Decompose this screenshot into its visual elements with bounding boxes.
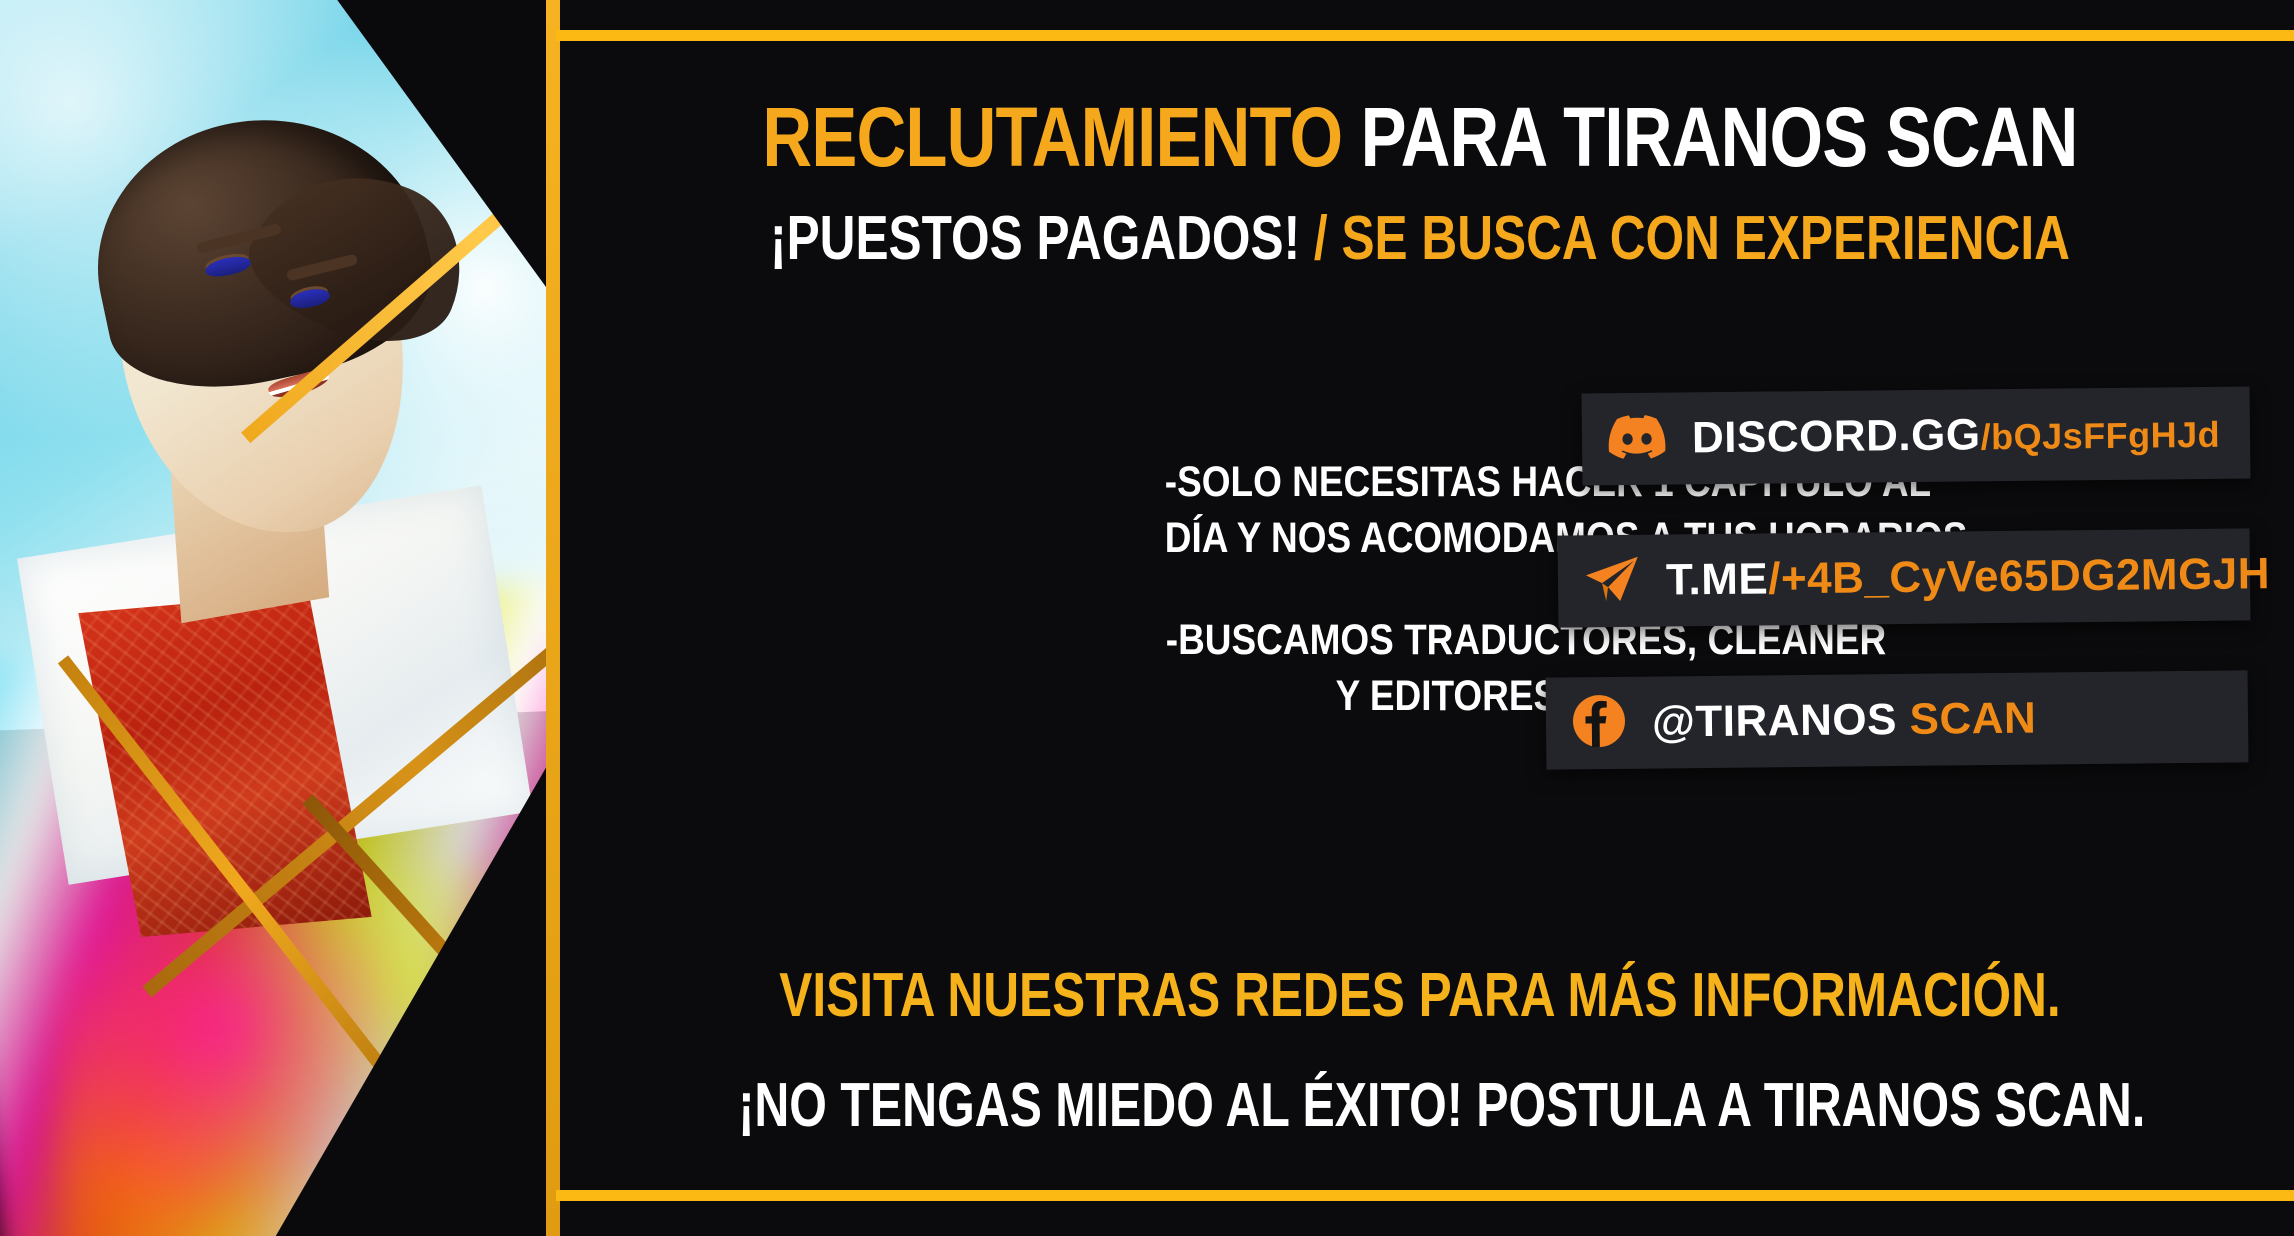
divider-top (556, 30, 2294, 41)
contact-text-telegram: T.ME/+4B_CyVe65DG2MGJH (1666, 549, 2271, 605)
page-subtitle: ¡PUESTOS PAGADOS! / SE BUSCA CON EXPERIE… (721, 208, 2119, 270)
contact-accent-discord: /bQJsFFgHJd (1980, 414, 2220, 458)
page-title-rest: PARA TIRANOS SCAN (1342, 90, 2077, 184)
recruitment-poster: RECLUTAMIENTO PARA TIRANOS SCAN ¡PUESTOS… (0, 0, 2294, 1236)
discord-icon (1608, 414, 1667, 464)
contact-accent-facebook: SCAN (1909, 694, 2036, 744)
telegram-icon (1584, 554, 1641, 608)
contact-list: DISCORD.GG/bQJsFFgHJd T.ME/+4B_CyVe65DG2… (1546, 390, 2276, 816)
facebook-icon (1572, 693, 1627, 753)
cta-line-primary: VISITA NUESTRAS REDES PARA MÁS INFORMACI… (721, 965, 2119, 1027)
page-title-highlight: RECLUTAMIENTO (762, 90, 1342, 184)
contact-row-telegram[interactable]: T.ME/+4B_CyVe65DG2MGJH (1558, 528, 2251, 627)
contact-accent-telegram: /+4B_CyVe65DG2MGJH (1768, 549, 2270, 603)
corner-mask-bottom-right (270, 726, 560, 1236)
content-panel: RECLUTAMIENTO PARA TIRANOS SCAN ¡PUESTOS… (546, 0, 2294, 1236)
contact-row-facebook[interactable]: @TIRANOS SCAN (1546, 670, 2249, 769)
contact-text-discord: DISCORD.GG/bQJsFFgHJd (1692, 408, 2221, 464)
contact-primary-discord: DISCORD.GG (1692, 410, 1981, 462)
page-title: RECLUTAMIENTO PARA TIRANOS SCAN (703, 95, 2136, 179)
contact-primary-telegram: T.ME (1666, 554, 1769, 604)
cta-line-secondary: ¡NO TENGAS MIEDO AL ÉXITO! POSTULA A TIR… (738, 1075, 2101, 1137)
artwork-panel (0, 0, 560, 1236)
contact-row-discord[interactable]: DISCORD.GG/bQJsFFgHJd (1582, 387, 2251, 486)
corner-mask-top-right (330, 0, 560, 320)
contact-primary-facebook: @TIRANOS (1652, 695, 1910, 747)
contact-text-facebook: @TIRANOS SCAN (1652, 694, 2037, 748)
page-subtitle-gold: / SE BUSCA CON EXPERIENCIA (1314, 204, 2070, 273)
page-subtitle-white: ¡PUESTOS PAGADOS! (770, 204, 1314, 273)
divider-bottom (556, 1190, 2294, 1201)
